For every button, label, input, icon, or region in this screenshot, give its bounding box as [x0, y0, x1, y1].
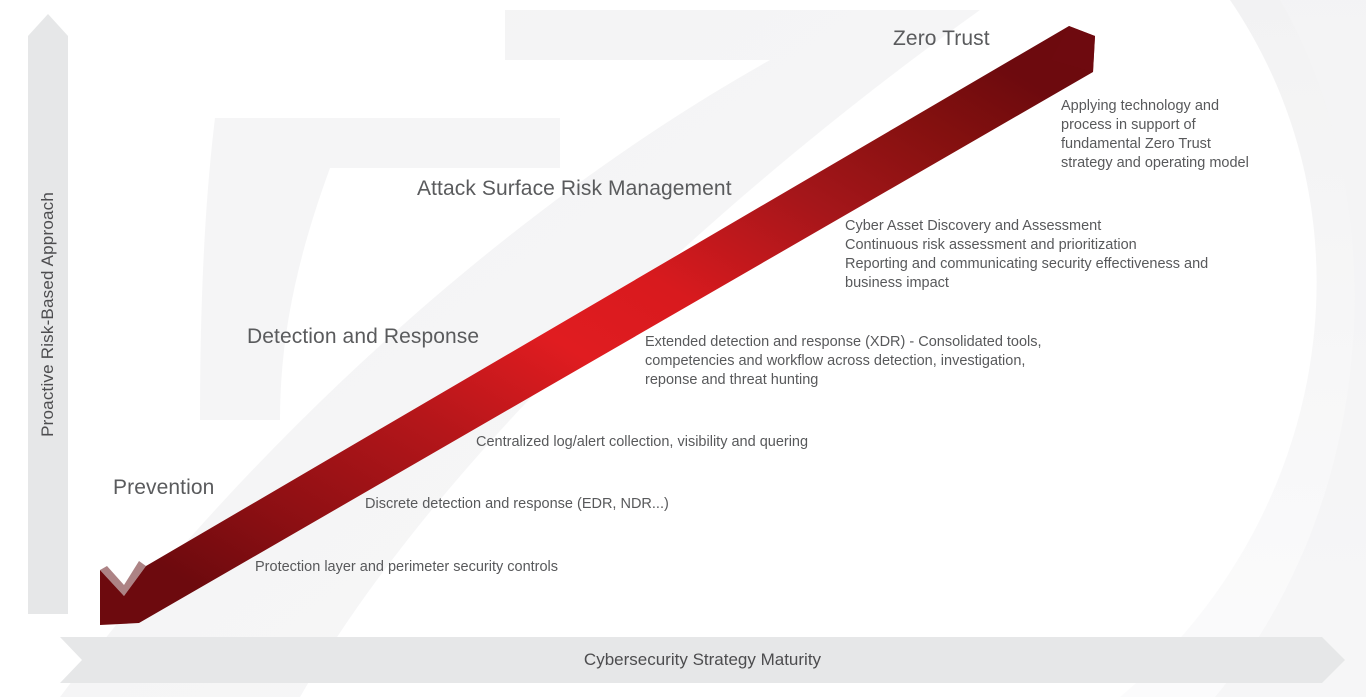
detail-discrete-detection: Discrete detection and response (EDR, ND…	[365, 495, 669, 514]
detail-line: reponse and threat hunting	[645, 371, 1042, 390]
detail-line: strategy and operating model	[1061, 154, 1249, 173]
detail-line: fundamental Zero Trust	[1061, 135, 1249, 154]
detail-applying-technology: Applying technology and process in suppo…	[1061, 97, 1249, 173]
detail-line: business impact	[845, 274, 1208, 293]
detail-line: competencies and workflow across detecti…	[645, 352, 1042, 371]
detail-line: Continuous risk assessment and prioritiz…	[845, 236, 1208, 255]
vertical-axis-label: Proactive Risk-Based Approach	[28, 14, 68, 614]
detail-centralized-log: Centralized log/alert collection, visibi…	[476, 433, 808, 452]
detail-line: Reporting and communicating security eff…	[845, 255, 1208, 274]
diagram-canvas: Proactive Risk-Based Approach Cybersecur…	[0, 0, 1366, 697]
detail-protection-layer: Protection layer and perimeter security …	[255, 558, 558, 577]
vertical-axis-label-text: Proactive Risk-Based Approach	[38, 192, 58, 437]
stage-title-zero-trust: Zero Trust	[893, 27, 990, 51]
detail-line: Centralized log/alert collection, visibi…	[476, 433, 808, 452]
detail-extended-detection-xdr: Extended detection and response (XDR) - …	[645, 333, 1042, 390]
horizontal-axis-label: Cybersecurity Strategy Maturity	[60, 637, 1345, 683]
detail-line: process in support of	[1061, 116, 1249, 135]
detail-line: Extended detection and response (XDR) - …	[645, 333, 1042, 352]
detail-cyber-asset-discovery: Cyber Asset Discovery and Assessment Con…	[845, 217, 1208, 293]
detail-line: Discrete detection and response (EDR, ND…	[365, 495, 669, 514]
stage-title-prevention: Prevention	[113, 476, 214, 500]
detail-line: Protection layer and perimeter security …	[255, 558, 558, 577]
detail-line: Cyber Asset Discovery and Assessment	[845, 217, 1208, 236]
detail-line: Applying technology and	[1061, 97, 1249, 116]
stage-title-detection-and-response: Detection and Response	[247, 325, 479, 349]
stage-title-attack-surface-risk-management: Attack Surface Risk Management	[417, 177, 732, 201]
